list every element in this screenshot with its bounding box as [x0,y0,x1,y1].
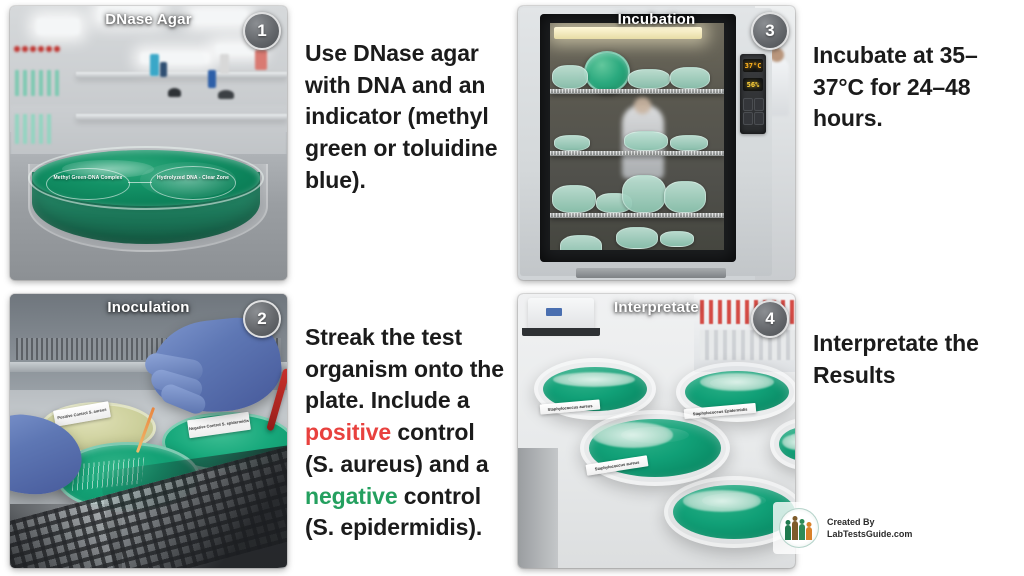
scene-result-plates: Staphylococcus aureus Staphylococcus Epi… [518,294,795,568]
step-4-number-badge: 4 [751,300,789,338]
step-2-caption-negative: negative [305,483,398,509]
step-4: Staphylococcus aureus Staphylococcus Epi… [518,294,1018,568]
incubator-temperature-display: 37°C [743,59,763,72]
step-2-caption-positive: positive [305,419,391,445]
incubator-button-1[interactable] [743,98,753,111]
petri-dish-dnase-agar: Methyl Green-DNA Complex Hydrolyzed DNA … [28,146,264,254]
scene-dnase-agar-plate: Methyl Green-DNA Complex Hydrolyzed DNA … [10,6,287,280]
step-3-image-card[interactable]: 37°C 56% Incubation 3 [518,6,795,280]
step-1: Methyl Green-DNA Complex Hydrolyzed DNA … [10,6,510,280]
step-3-number-badge: 3 [751,12,789,50]
result-plate-3 [580,410,730,486]
step-2-caption: Streak the test organism onto the plate.… [287,294,510,544]
step-2: Positive Control S. aureus Negative Cont… [10,294,510,568]
incubator-plate-highlight [584,51,630,93]
watermark-line-1: Created By [827,516,912,528]
step-3: 37°C 56% Incubation 3 Incubate at 35–37°… [518,6,1018,280]
incubator-control-panel[interactable]: 37°C 56% [740,54,766,134]
incubator-button-4[interactable] [754,112,764,125]
step-3-caption: Incubate at 35–37°C for 24–48 hours. [795,6,1018,135]
step-1-number-badge: 1 [243,12,281,50]
plate-tag-right-text: Negative Control S. epidermidis [189,418,250,431]
step-2-image-card[interactable]: Positive Control S. aureus Negative Cont… [10,294,287,568]
step-1-caption: Use DNase agar with DNA and an indicator… [287,6,510,197]
watermark[interactable]: Created By LabTestsGuide.com [773,502,923,554]
labtestsguide-logo-icon [779,508,819,548]
incubator-button-2[interactable] [754,98,764,111]
step-2-caption-seg-1: Streak the test organism onto the plate.… [305,324,504,413]
infographic-root: Methyl Green-DNA Complex Hydrolyzed DNA … [0,0,1024,576]
incubator-humidity-display: 56% [743,78,763,91]
plate-tag-left-text: Positive Control S. aureus [57,407,107,420]
step-4-caption: Interpretate the Results [795,294,1018,391]
scene-inoculation-biosafety-cabinet: Positive Control S. aureus Negative Cont… [10,294,287,568]
step-2-number-badge: 2 [243,300,281,338]
incubator-button-3[interactable] [743,112,753,125]
watermark-line-2: LabTestsGuide.com [827,528,912,540]
scene-incubator: 37°C 56% [518,6,795,280]
step-1-image-card[interactable]: Methyl Green-DNA Complex Hydrolyzed DNA … [10,6,287,280]
watermark-text: Created By LabTestsGuide.com [827,516,912,540]
step-4-image-card[interactable]: Staphylococcus aureus Staphylococcus Epi… [518,294,795,568]
